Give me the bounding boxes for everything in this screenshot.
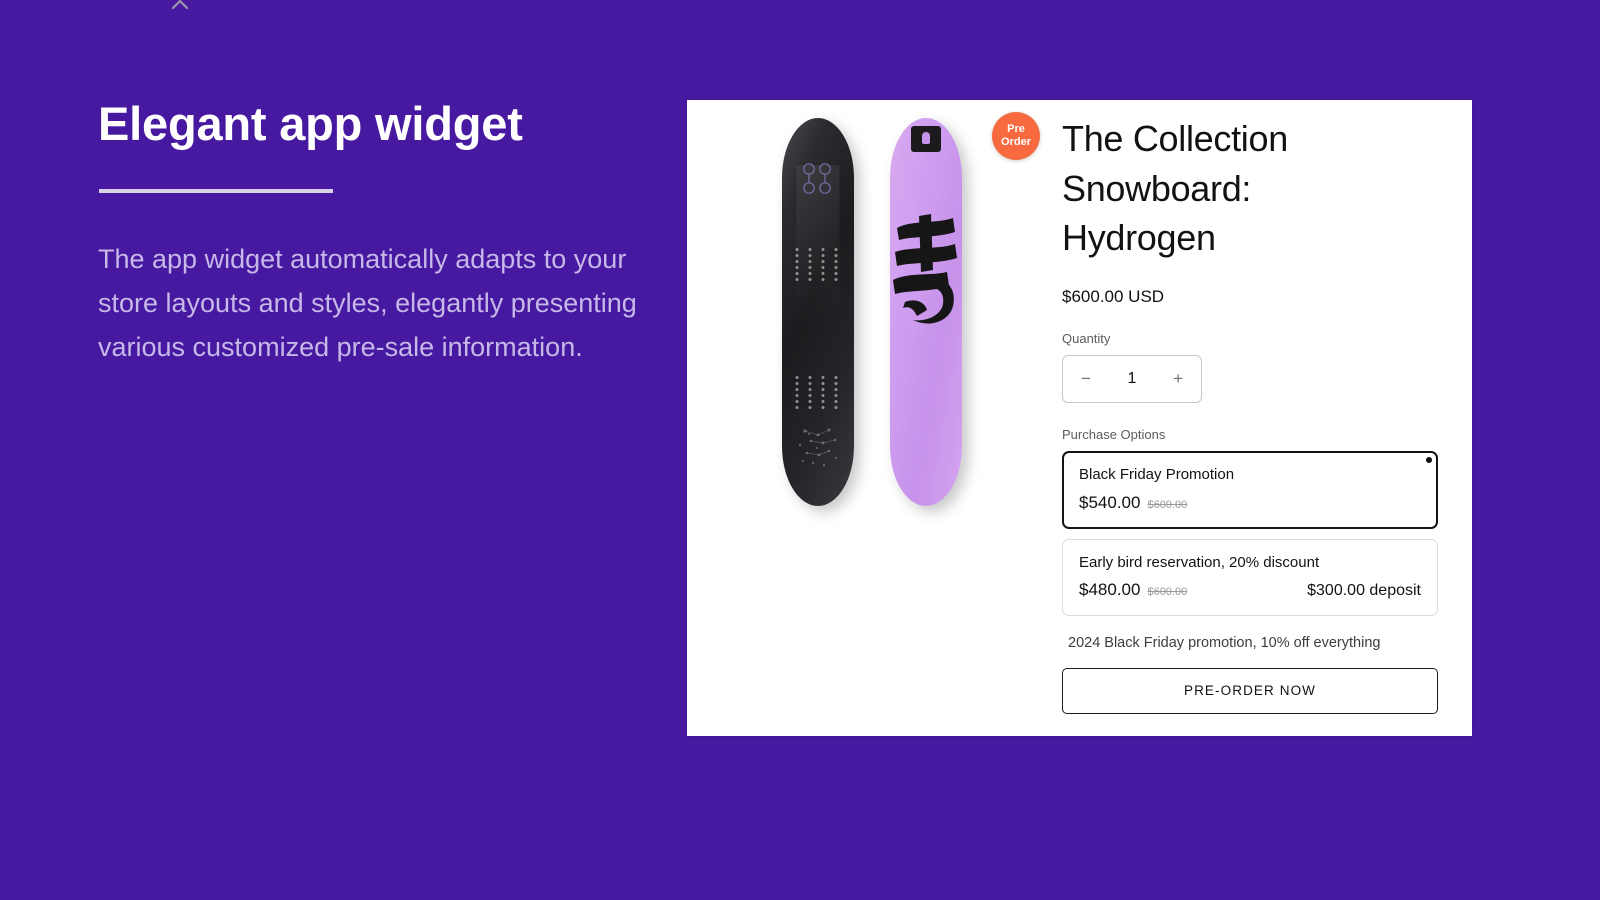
product-price: $600.00 USD (1062, 287, 1438, 307)
snowboard-ring-graphic (800, 162, 836, 196)
product-title: The Collection Snowboard: Hydrogen (1062, 114, 1362, 263)
plus-icon[interactable]: + (1173, 369, 1183, 389)
product-media: Pre Order (687, 100, 1062, 736)
purchase-options-list: Black Friday Promotion $540.00 $600.00 E… (1062, 451, 1438, 616)
purchase-option-compare-price: $600.00 (1147, 499, 1187, 511)
purchase-option-price: $480.00 (1079, 580, 1140, 600)
purchase-option-title: Black Friday Promotion (1079, 465, 1421, 485)
pre-order-badge-line1: Pre (1007, 123, 1025, 136)
quantity-value[interactable]: 1 (1128, 370, 1137, 388)
pre-order-now-button[interactable]: PRE-ORDER NOW (1062, 668, 1438, 714)
promotion-note: 2024 Black Friday promotion, 10% off eve… (1062, 630, 1392, 658)
product-card: Pre Order The Collection Snowboard: Hydr… (687, 100, 1472, 736)
page-title: Elegant app widget (98, 96, 658, 151)
promo-description: The app widget automatically adapts to y… (98, 237, 658, 369)
quantity-stepper[interactable]: − 1 + (1062, 355, 1202, 403)
promo-section: Elegant app widget The app widget automa… (98, 96, 658, 369)
purchase-option-deposit: $300.00 deposit (1307, 582, 1421, 600)
snowboard-dark-image (782, 118, 854, 506)
purchase-option-black-friday[interactable]: Black Friday Promotion $540.00 $600.00 (1062, 451, 1438, 529)
minus-icon[interactable]: − (1081, 369, 1091, 389)
selected-indicator-dot (1426, 457, 1432, 463)
purchase-options-label: Purchase Options (1062, 427, 1438, 442)
title-underline-divider (99, 189, 333, 193)
snowboard-brush-graphic (891, 206, 961, 356)
pre-order-badge: Pre Order (992, 112, 1040, 160)
quantity-label: Quantity (1062, 331, 1438, 346)
snowboard-speckle-graphic (791, 425, 845, 476)
purchase-option-price: $540.00 (1079, 493, 1140, 513)
snowboard-mount-dots-lower (795, 376, 840, 409)
purchase-option-title: Early bird reservation, 20% discount (1079, 553, 1421, 573)
snowboard-mount-dots-upper (795, 248, 840, 281)
chevron-up-icon[interactable] (168, 0, 192, 16)
snowboard-purple-image (890, 118, 962, 506)
product-details: The Collection Snowboard: Hydrogen $600.… (1062, 100, 1472, 736)
product-image-snowboards[interactable] (760, 118, 990, 518)
snowboard-binding-icon (911, 126, 941, 152)
purchase-option-compare-price: $600.00 (1147, 586, 1187, 598)
pre-order-badge-line2: Order (1001, 136, 1031, 149)
purchase-option-early-bird[interactable]: Early bird reservation, 20% discount $48… (1062, 539, 1438, 617)
